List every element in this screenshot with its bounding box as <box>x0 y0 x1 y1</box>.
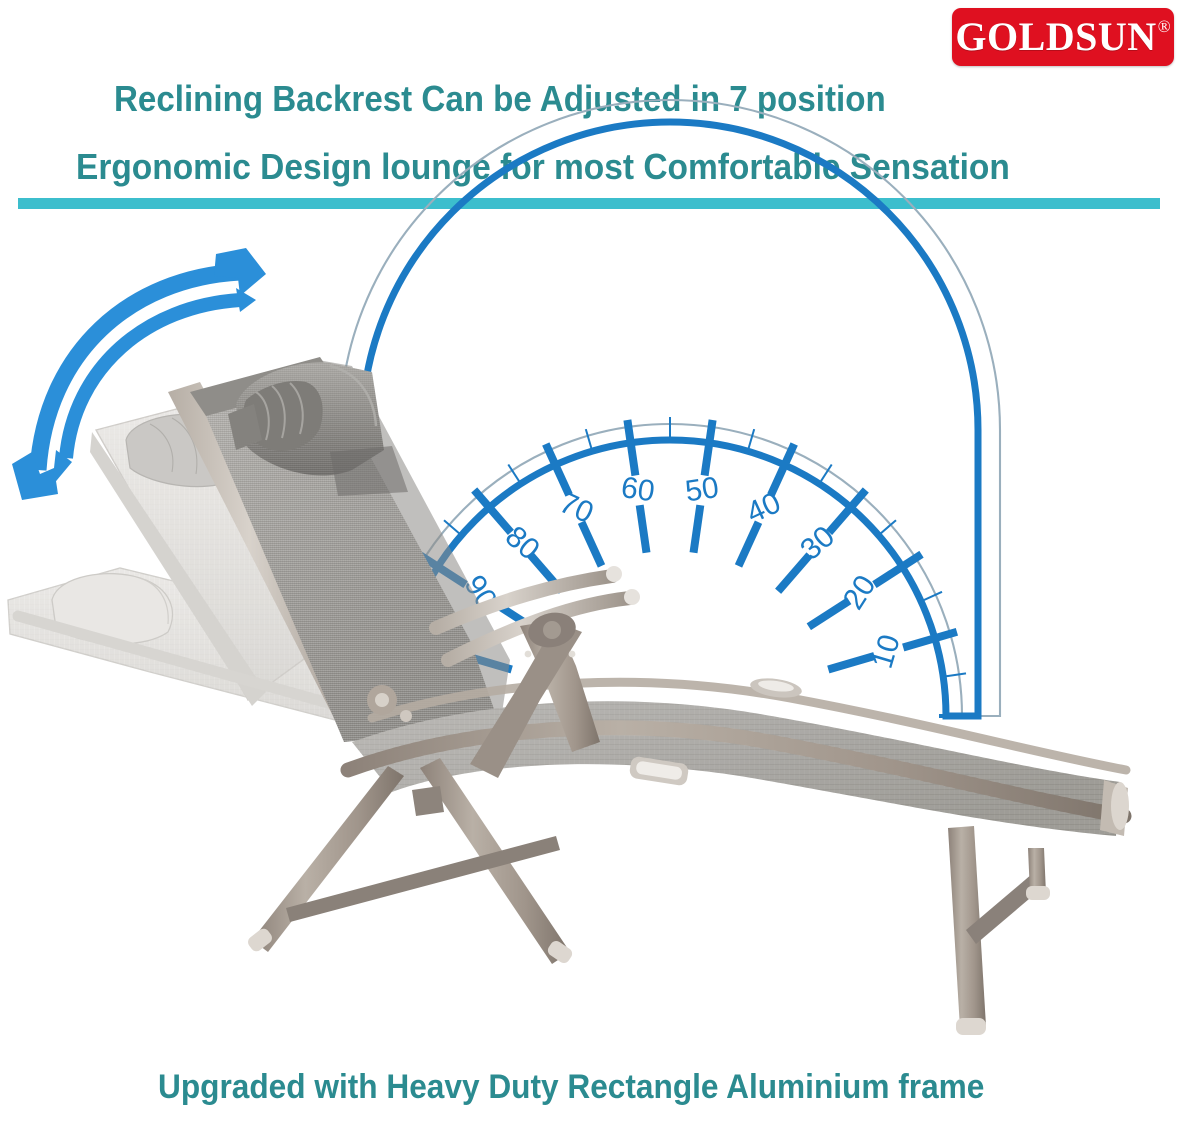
protractor-inner-tick <box>640 505 647 553</box>
protractor-label: 50 <box>683 471 721 508</box>
protractor-label: 10 <box>866 631 907 672</box>
protractor-inner-tick <box>809 601 849 627</box>
leg-rear-left <box>252 766 404 952</box>
protractor-inner-tick <box>694 505 701 553</box>
protractor-major-tick <box>705 420 713 476</box>
protractor-inner-tick <box>778 555 809 591</box>
product-illustration: 100908070605040302010 <box>0 0 1183 1124</box>
bottom-caption: Upgraded with Heavy Duty Rectangle Alumi… <box>158 1068 984 1107</box>
protractor-major-tick <box>627 420 635 476</box>
protractor-label: 70 <box>554 486 598 530</box>
protractor-label: 60 <box>619 471 657 508</box>
infographic-canvas: GOLDSUN ® Reclining Backrest Can be Adju… <box>0 0 1183 1124</box>
protractor-label: 40 <box>742 486 786 530</box>
